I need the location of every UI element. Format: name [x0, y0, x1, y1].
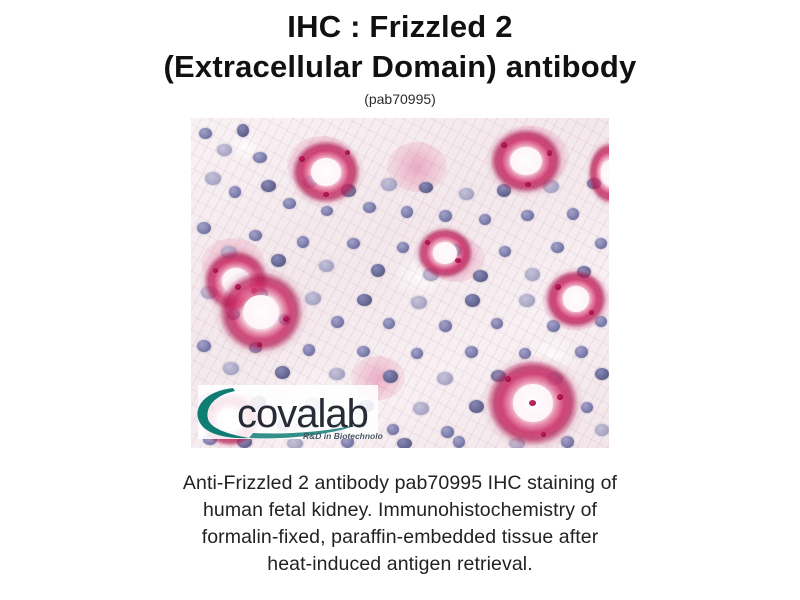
caption-line-4: heat-induced antigen retrieval. — [0, 551, 800, 578]
caption-line-2: human fetal kidney. Immunohistochemistry… — [0, 497, 800, 524]
caption-line-3: formalin-fixed, paraffin-embedded tissue… — [0, 524, 800, 551]
title-line-primary: IHC : Frizzled 2 — [0, 8, 800, 46]
stained-tubule — [585, 138, 609, 208]
page-title: IHC : Frizzled 2 (Extracellular Domain) … — [0, 0, 800, 108]
stained-tubule — [541, 266, 609, 332]
stained-tubule — [481, 354, 585, 448]
stained-tubule — [413, 224, 477, 282]
caption-line-1: Anti-Frizzled 2 antibody pab70995 IHC st… — [0, 470, 800, 497]
ihc-figure-page: { "page": { "background_color": "#ffffff… — [0, 0, 800, 600]
title-line-secondary: (Extracellular Domain) antibody — [0, 48, 800, 86]
logo-wordmark: covalab — [237, 392, 368, 436]
stained-tubule — [213, 266, 309, 358]
covalab-logo: covalab R&D in Biotechnology — [193, 383, 383, 443]
stained-tubule — [287, 136, 365, 208]
stained-tubule — [485, 124, 567, 198]
catalog-number: (pab70995) — [0, 90, 800, 108]
logo-tagline: R&D in Biotechnology — [303, 431, 383, 441]
figure-caption: Anti-Frizzled 2 antibody pab70995 IHC st… — [0, 470, 800, 578]
